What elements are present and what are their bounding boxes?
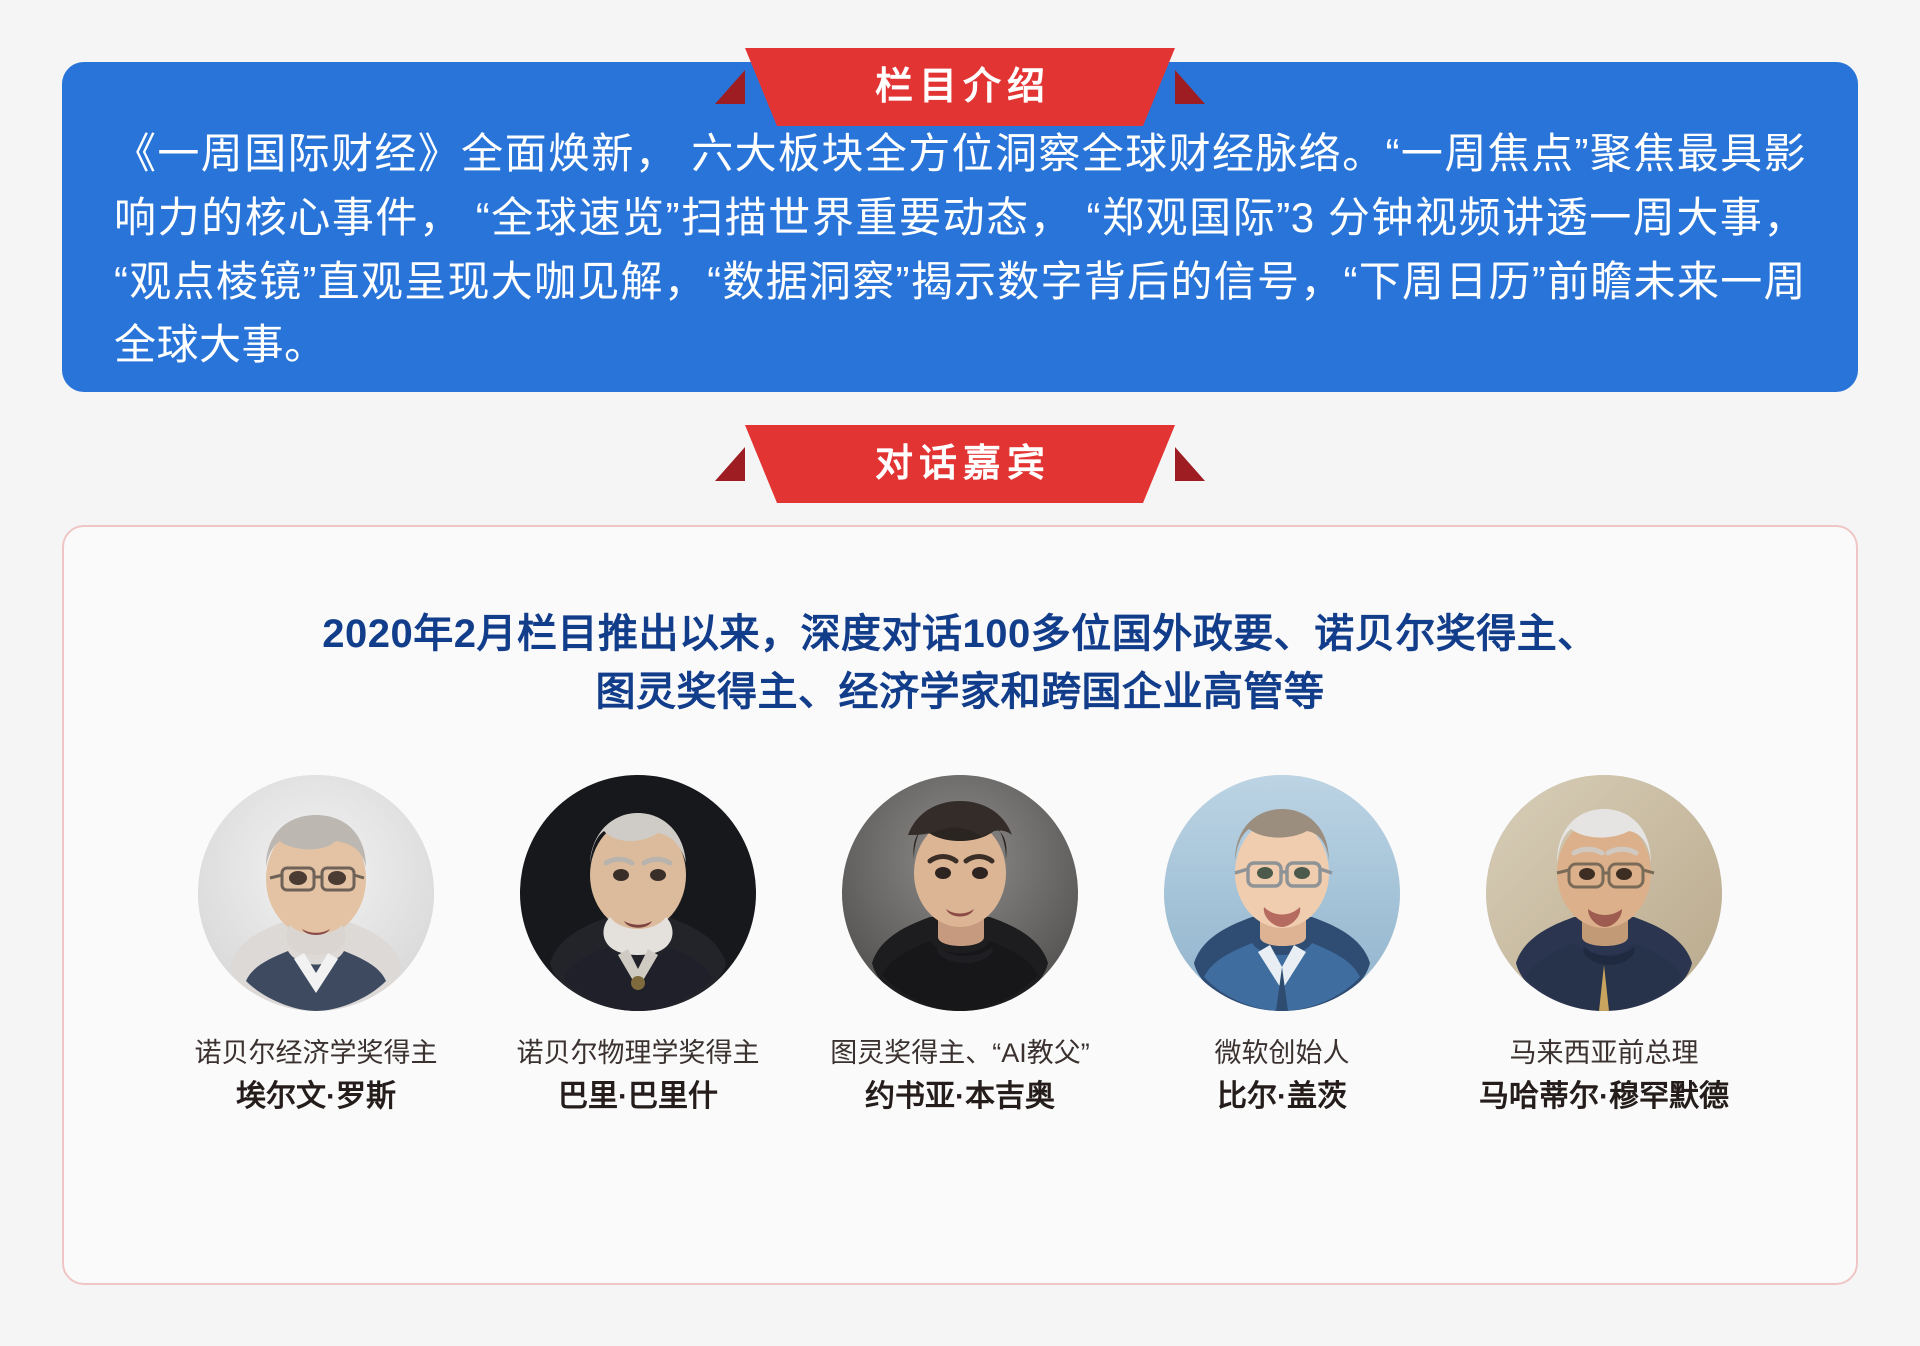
- ribbon-fold-left-icon: [715, 447, 745, 481]
- guest-item[interactable]: 诺贝尔物理学奖得主 巴里·巴里什: [503, 775, 773, 1115]
- portrait-yoshua-bengio-icon: [842, 775, 1078, 1011]
- guest-item[interactable]: 马来西亚前总理 马哈蒂尔·穆罕默德: [1469, 775, 1739, 1115]
- guests-list: 诺贝尔经济学奖得主 埃尔文·罗斯: [64, 775, 1856, 1115]
- guest-item[interactable]: 微软创始人 比尔·盖茨: [1147, 775, 1417, 1115]
- portrait-alvin-roth-icon: [198, 775, 434, 1011]
- portrait-mahathir-mohamad-icon: [1486, 775, 1722, 1011]
- portrait-bill-gates-icon: [1164, 775, 1400, 1011]
- guests-heading: 2020年2月栏目推出以来，深度对话100多位国外政要、诺贝尔奖得主、 图灵奖得…: [180, 605, 1740, 721]
- avatar: [520, 775, 756, 1011]
- guests-ribbon-label: 对话嘉宾: [869, 445, 1051, 483]
- intro-ribbon: 栏目介绍: [745, 48, 1175, 126]
- guest-name: 巴里·巴里什: [558, 1079, 718, 1115]
- intro-ribbon-body: 栏目介绍: [745, 48, 1175, 126]
- guest-role: 诺贝尔经济学奖得主: [195, 1037, 438, 1069]
- guest-role: 马来西亚前总理: [1510, 1037, 1699, 1069]
- avatar: [1164, 775, 1400, 1011]
- guest-name: 比尔·盖茨: [1217, 1079, 1347, 1115]
- guests-heading-line-2: 图灵奖得主、经济学家和跨国企业高管等: [180, 663, 1740, 721]
- guests-ribbon-body: 对话嘉宾: [745, 425, 1175, 503]
- guest-name: 马哈蒂尔·穆罕默德: [1479, 1079, 1729, 1115]
- guest-name: 约书亚·本吉奥: [865, 1079, 1055, 1115]
- ribbon-fold-right-icon: [1175, 447, 1205, 481]
- avatar: [842, 775, 1078, 1011]
- guest-item[interactable]: 诺贝尔经济学奖得主 埃尔文·罗斯: [181, 775, 451, 1115]
- guest-role: 图灵奖得主、“AI教父”: [830, 1037, 1090, 1069]
- portrait-barry-barish-icon: [520, 775, 756, 1011]
- intro-body-text: 《一周国际财经》全面焕新， 六大板块全方位洞察全球财经脉络。“一周焦点”聚焦最具…: [114, 122, 1806, 377]
- avatar: [198, 775, 434, 1011]
- guest-item[interactable]: 图灵奖得主、“AI教父” 约书亚·本吉奥: [825, 775, 1095, 1115]
- guest-name: 埃尔文·罗斯: [236, 1079, 396, 1115]
- guest-role: 微软创始人: [1215, 1037, 1350, 1069]
- avatar: [1486, 775, 1722, 1011]
- intro-ribbon-label: 栏目介绍: [869, 68, 1051, 106]
- guests-card: 2020年2月栏目推出以来，深度对话100多位国外政要、诺贝尔奖得主、 图灵奖得…: [62, 525, 1858, 1285]
- guest-role: 诺贝尔物理学奖得主: [517, 1037, 760, 1069]
- page-root: 《一周国际财经》全面焕新， 六大板块全方位洞察全球财经脉络。“一周焦点”聚焦最具…: [0, 0, 1920, 1346]
- guests-heading-line-1: 2020年2月栏目推出以来，深度对话100多位国外政要、诺贝尔奖得主、: [180, 605, 1740, 663]
- guests-ribbon: 对话嘉宾: [745, 425, 1175, 503]
